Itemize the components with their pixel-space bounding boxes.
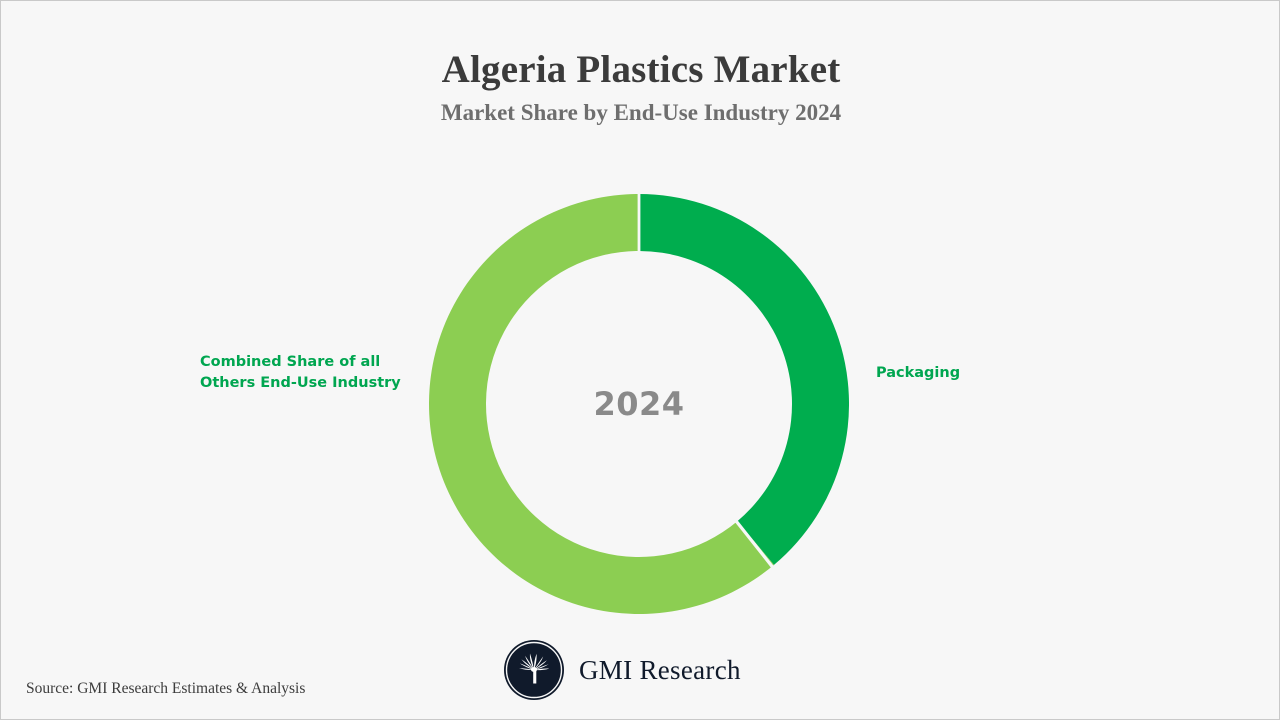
slice-label-others: Combined Share of all Others End-Use Ind… [200, 352, 410, 394]
gmi-palm-logo-icon [503, 639, 565, 701]
donut-slice-packaging[interactable] [639, 194, 849, 565]
chart-canvas: Algeria Plastics Market Market Share by … [0, 0, 1280, 720]
page-subtitle: Market Share by End-Use Industry 2024 [1, 98, 1280, 128]
donut-chart: 2024 [429, 194, 849, 614]
source-note: Source: GMI Research Estimates & Analysi… [26, 680, 305, 698]
brand-logo: GMI Research [503, 639, 741, 701]
slice-label-packaging: Packaging [876, 363, 1076, 384]
title-block: Algeria Plastics Market Market Share by … [1, 47, 1280, 128]
donut-svg [429, 194, 849, 614]
brand-name: GMI Research [579, 655, 741, 686]
page-title: Algeria Plastics Market [1, 47, 1280, 93]
slice-divider-top [638, 194, 641, 252]
